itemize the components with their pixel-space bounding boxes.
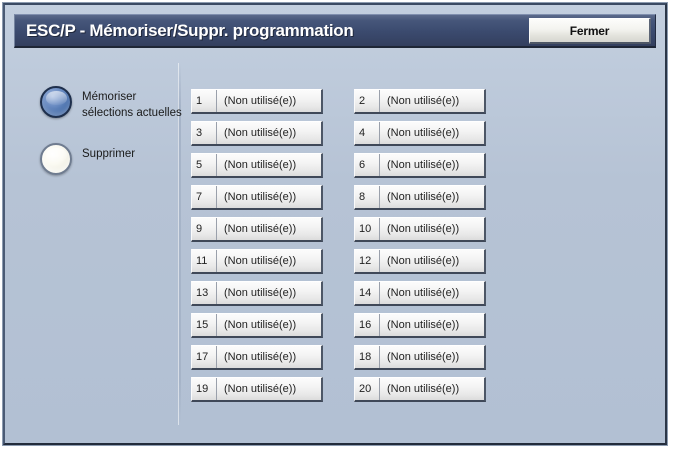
- program-slot-number: 2: [355, 90, 380, 112]
- program-slot-number: 10: [355, 218, 380, 240]
- program-slot-number: 13: [192, 282, 217, 304]
- program-slot-row: 3(Non utilisé(e))4(Non utilisé(e)): [191, 121, 651, 146]
- page-title: ESC/P - Mémoriser/Suppr. programmation: [15, 21, 353, 41]
- program-slot-row: 15(Non utilisé(e))16(Non utilisé(e)): [191, 313, 651, 338]
- program-slot-button[interactable]: 4(Non utilisé(e)): [354, 121, 486, 146]
- program-slot-name: (Non utilisé(e)): [217, 186, 321, 208]
- mode-option-memoriser-line1: Mémoriser: [82, 89, 182, 105]
- program-slot-number: 6: [355, 154, 380, 176]
- dialog-content: Mémoriser sélections actuelles Supprimer…: [14, 54, 656, 432]
- program-slot-button[interactable]: 14(Non utilisé(e)): [354, 281, 486, 306]
- program-slot-number: 17: [192, 346, 217, 368]
- radio-unselected-icon[interactable]: [40, 143, 72, 175]
- program-slot-button[interactable]: 10(Non utilisé(e)): [354, 217, 486, 242]
- title-bar: ESC/P - Mémoriser/Suppr. programmation F…: [14, 14, 656, 48]
- program-slot-name: (Non utilisé(e)): [380, 122, 484, 144]
- program-slot-button[interactable]: 3(Non utilisé(e)): [191, 121, 323, 146]
- program-slot-number: 14: [355, 282, 380, 304]
- program-slot-number: 1: [192, 90, 217, 112]
- program-slot-number: 20: [355, 378, 380, 400]
- program-slot-number: 15: [192, 314, 217, 336]
- program-slot-row: 13(Non utilisé(e))14(Non utilisé(e)): [191, 281, 651, 306]
- program-slot-name: (Non utilisé(e)): [217, 314, 321, 336]
- program-slot-name: (Non utilisé(e)): [217, 250, 321, 272]
- program-slot-row: 11(Non utilisé(e))12(Non utilisé(e)): [191, 249, 651, 274]
- program-slot-name: (Non utilisé(e)): [380, 378, 484, 400]
- program-slot-number: 3: [192, 122, 217, 144]
- program-slot-button[interactable]: 9(Non utilisé(e)): [191, 217, 323, 242]
- program-slot-name: (Non utilisé(e)): [380, 314, 484, 336]
- program-slot-number: 19: [192, 378, 217, 400]
- program-slot-name: (Non utilisé(e)): [217, 218, 321, 240]
- program-slot-row: 5(Non utilisé(e))6(Non utilisé(e)): [191, 153, 651, 178]
- mode-option-supprimer-line1: Supprimer: [82, 146, 135, 162]
- program-slot-button[interactable]: 13(Non utilisé(e)): [191, 281, 323, 306]
- close-button-label: Fermer: [570, 24, 610, 38]
- program-slot-button[interactable]: 2(Non utilisé(e)): [354, 89, 486, 114]
- program-slot-button[interactable]: 8(Non utilisé(e)): [354, 185, 486, 210]
- program-slot-row: 17(Non utilisé(e))18(Non utilisé(e)): [191, 345, 651, 370]
- program-slot-name: (Non utilisé(e)): [380, 282, 484, 304]
- program-slot-button[interactable]: 6(Non utilisé(e)): [354, 153, 486, 178]
- program-slot-row: 1(Non utilisé(e))2(Non utilisé(e)): [191, 89, 651, 114]
- program-slot-row: 7(Non utilisé(e))8(Non utilisé(e)): [191, 185, 651, 210]
- program-slot-number: 7: [192, 186, 217, 208]
- radio-selected-icon[interactable]: [40, 86, 72, 118]
- program-slot-name: (Non utilisé(e)): [380, 186, 484, 208]
- close-button[interactable]: Fermer: [529, 18, 651, 44]
- mode-option-memoriser[interactable]: Mémoriser sélections actuelles: [14, 86, 174, 121]
- mode-option-supprimer[interactable]: Supprimer: [14, 143, 174, 175]
- program-slot-button[interactable]: 5(Non utilisé(e)): [191, 153, 323, 178]
- program-slot-button[interactable]: 16(Non utilisé(e)): [354, 313, 486, 338]
- program-slot-button[interactable]: 18(Non utilisé(e)): [354, 345, 486, 370]
- program-slot-name: (Non utilisé(e)): [380, 154, 484, 176]
- mode-option-memoriser-label: Mémoriser sélections actuelles: [82, 86, 182, 121]
- dialog-window: ESC/P - Mémoriser/Suppr. programmation F…: [3, 3, 667, 445]
- program-slot-number: 18: [355, 346, 380, 368]
- mode-option-supprimer-label: Supprimer: [82, 143, 135, 162]
- program-slot-button[interactable]: 19(Non utilisé(e)): [191, 377, 323, 402]
- program-slot-number: 4: [355, 122, 380, 144]
- program-slot-name: (Non utilisé(e)): [380, 346, 484, 368]
- program-slot-button[interactable]: 20(Non utilisé(e)): [354, 377, 486, 402]
- program-slot-number: 5: [192, 154, 217, 176]
- program-slot-name: (Non utilisé(e)): [217, 282, 321, 304]
- program-slot-button[interactable]: 11(Non utilisé(e)): [191, 249, 323, 274]
- program-slot-grid: 1(Non utilisé(e))2(Non utilisé(e))3(Non …: [191, 89, 651, 409]
- program-slot-name: (Non utilisé(e)): [380, 250, 484, 272]
- program-slot-button[interactable]: 17(Non utilisé(e)): [191, 345, 323, 370]
- program-slot-number: 8: [355, 186, 380, 208]
- program-slot-name: (Non utilisé(e)): [217, 122, 321, 144]
- program-slot-button[interactable]: 12(Non utilisé(e)): [354, 249, 486, 274]
- program-slot-name: (Non utilisé(e)): [217, 90, 321, 112]
- program-slot-number: 16: [355, 314, 380, 336]
- program-slot-name: (Non utilisé(e)): [380, 90, 484, 112]
- program-slot-button[interactable]: 7(Non utilisé(e)): [191, 185, 323, 210]
- program-slot-name: (Non utilisé(e)): [217, 378, 321, 400]
- program-slot-number: 12: [355, 250, 380, 272]
- program-slot-row: 9(Non utilisé(e))10(Non utilisé(e)): [191, 217, 651, 242]
- program-slot-name: (Non utilisé(e)): [217, 346, 321, 368]
- program-slot-number: 9: [192, 218, 217, 240]
- program-slot-button[interactable]: 15(Non utilisé(e)): [191, 313, 323, 338]
- program-slot-number: 11: [192, 250, 217, 272]
- program-slot-name: (Non utilisé(e)): [217, 154, 321, 176]
- mode-option-memoriser-line2: sélections actuelles: [82, 105, 182, 121]
- program-slot-row: 19(Non utilisé(e))20(Non utilisé(e)): [191, 377, 651, 402]
- program-slot-name: (Non utilisé(e)): [380, 218, 484, 240]
- program-slot-button[interactable]: 1(Non utilisé(e)): [191, 89, 323, 114]
- mode-option-list: Mémoriser sélections actuelles Supprimer: [14, 86, 174, 197]
